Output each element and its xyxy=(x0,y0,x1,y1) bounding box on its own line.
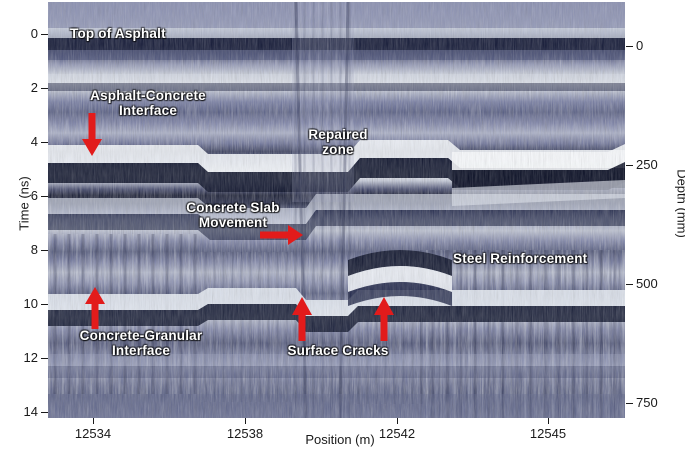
depth-tick-500 xyxy=(626,284,633,285)
radargram-plot-area: Top of Asphalt Asphalt-Concrete Interfac… xyxy=(48,2,625,418)
time-axis-title: Time (ns) xyxy=(17,164,32,244)
position-axis-title: Position (m) xyxy=(280,432,400,447)
time-ticklabel-0: 0 xyxy=(0,26,38,41)
time-ticklabel-8: 8 xyxy=(0,242,38,257)
position-ticklabel-12538: 12538 xyxy=(205,426,285,441)
time-tick-2 xyxy=(41,88,48,89)
depth-tick-750 xyxy=(626,403,633,404)
time-ticklabel-10: 10 xyxy=(0,296,38,311)
depth-ticklabel-500: 500 xyxy=(636,276,658,291)
depth-axis-title: Depth (mm) xyxy=(675,159,685,249)
time-tick-12 xyxy=(41,358,48,359)
gpr-radargram-figure: Top of Asphalt Asphalt-Concrete Interfac… xyxy=(0,0,685,453)
position-tick-12534 xyxy=(93,418,94,424)
radargram-image xyxy=(48,2,625,418)
time-tick-6 xyxy=(41,196,48,197)
time-ticklabel-2: 2 xyxy=(0,80,38,95)
time-ticklabel-14: 14 xyxy=(0,404,38,419)
position-ticklabel-12545: 12545 xyxy=(508,426,588,441)
position-tick-12545 xyxy=(548,418,549,424)
arrow-slab-movement-right-icon xyxy=(260,224,304,246)
time-tick-10 xyxy=(41,304,48,305)
time-tick-8 xyxy=(41,250,48,251)
time-tick-4 xyxy=(41,142,48,143)
time-ticklabel-12: 12 xyxy=(0,350,38,365)
arrow-surface-crack-right-up-icon xyxy=(373,296,395,342)
depth-ticklabel-0: 0 xyxy=(636,38,643,53)
arrow-concrete-granular-up-icon xyxy=(84,286,106,330)
depth-tick-0 xyxy=(626,46,633,47)
time-tick-14 xyxy=(41,412,48,413)
arrow-asphalt-concrete-down-icon xyxy=(81,113,103,157)
depth-ticklabel-750: 750 xyxy=(636,395,658,410)
position-ticklabel-12534: 12534 xyxy=(53,426,133,441)
position-tick-12538 xyxy=(245,418,246,424)
depth-tick-250 xyxy=(626,165,633,166)
time-ticklabel-4: 4 xyxy=(0,134,38,149)
position-tick-12542 xyxy=(397,418,398,424)
arrow-surface-crack-left-up-icon xyxy=(291,296,313,342)
time-tick-0 xyxy=(41,34,48,35)
depth-ticklabel-250: 250 xyxy=(636,157,658,172)
